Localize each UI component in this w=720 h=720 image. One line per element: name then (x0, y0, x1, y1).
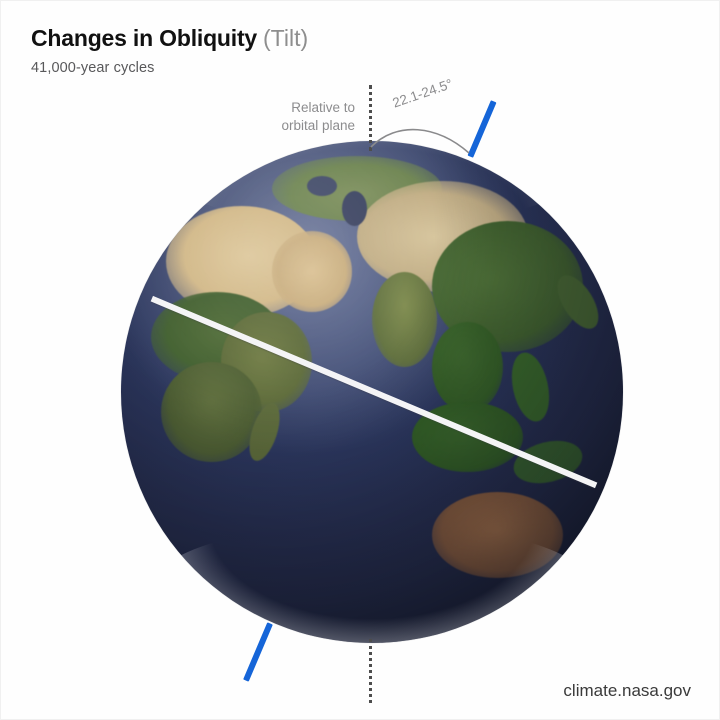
land-southern-africa (161, 362, 261, 462)
orbital-plane-label-line2: orbital plane (197, 117, 355, 135)
land-australia (432, 492, 563, 577)
orbital-plane-reference-bottom (369, 639, 372, 703)
source-attribution: climate.nasa.gov (563, 681, 691, 701)
tilt-angle-label: 22.1-24.5° (391, 76, 455, 111)
obliquity-diagram: Relative to orbital plane 22.1-24.5° (1, 1, 720, 720)
land-arabia (272, 231, 352, 311)
infographic-page: Changes in Obliquity(Tilt) 41,000-year c… (0, 0, 720, 720)
orbital-plane-reference-top (369, 85, 372, 151)
water-black-sea (307, 176, 337, 196)
land-indochina (432, 322, 502, 412)
water-caspian (342, 191, 367, 226)
orbital-plane-label: Relative to orbital plane (197, 99, 355, 135)
land-philippines (506, 349, 555, 425)
land-india (372, 272, 437, 367)
orbital-plane-label-line1: Relative to (197, 99, 355, 117)
